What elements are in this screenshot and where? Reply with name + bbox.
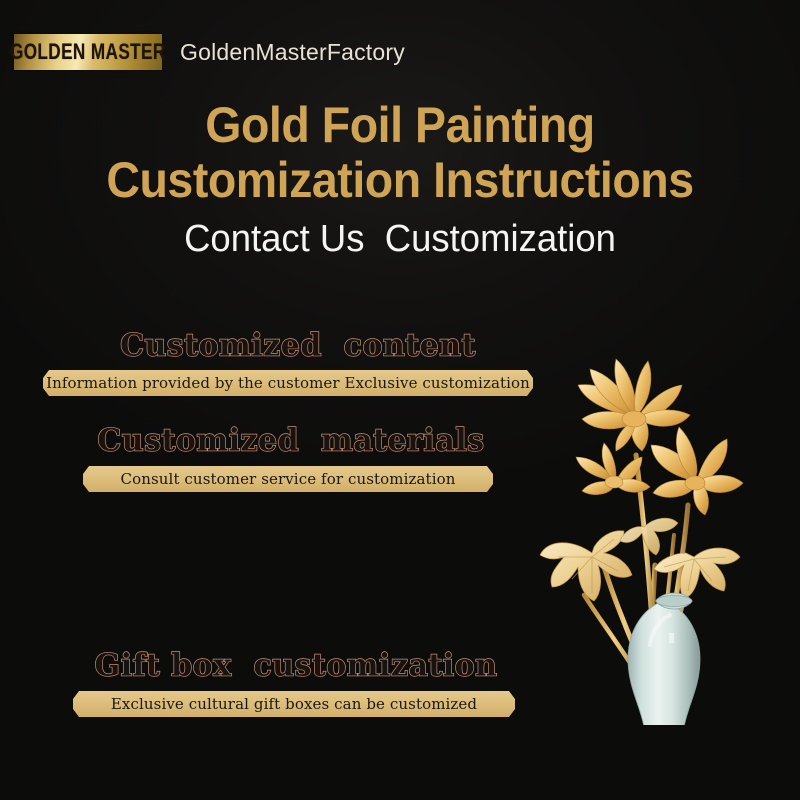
section-banner-text: Information provided by the customer Exc…	[46, 374, 530, 392]
page-title-line2: Customization Instructions	[28, 153, 772, 208]
poster-canvas: GOLDEN MASTER GoldenMasterFactory Gold F…	[0, 0, 800, 800]
section-banner: Exclusive cultural gift boxes can be cus…	[73, 691, 515, 717]
celadon-vase	[628, 593, 712, 725]
section-customized-materials: Customized materials Consult customer se…	[0, 423, 560, 492]
lotus-bouquet-icon	[540, 295, 800, 725]
section-banner-text: Consult customer service for customizati…	[121, 470, 456, 488]
page-title: Gold Foil Painting Customization Instruc…	[0, 98, 800, 208]
logo-wordmark: GOLDEN MASTER	[10, 39, 166, 65]
page-title-line1: Gold Foil Painting	[28, 98, 772, 153]
section-heading: Customized materials	[0, 422, 560, 458]
page-subtitle: Contact Us Customization	[16, 218, 784, 261]
section-gift-box-customization: Gift box customization Exclusive cultura…	[0, 648, 560, 717]
product-image-gold-lotus-vase	[540, 295, 800, 725]
section-banner-text: Exclusive cultural gift boxes can be cus…	[111, 695, 477, 713]
section-heading: Gift box customization	[0, 647, 560, 683]
section-heading: Customized content	[0, 327, 560, 363]
brand-row: GOLDEN MASTER GoldenMasterFactory	[14, 34, 405, 70]
brand-name: GoldenMasterFactory	[180, 39, 405, 66]
golden-master-logo: GOLDEN MASTER	[14, 34, 162, 70]
section-customized-content: Customized content Information provided …	[0, 328, 560, 396]
section-banner: Consult customer service for customizati…	[83, 466, 493, 492]
section-banner: Information provided by the customer Exc…	[43, 370, 533, 396]
